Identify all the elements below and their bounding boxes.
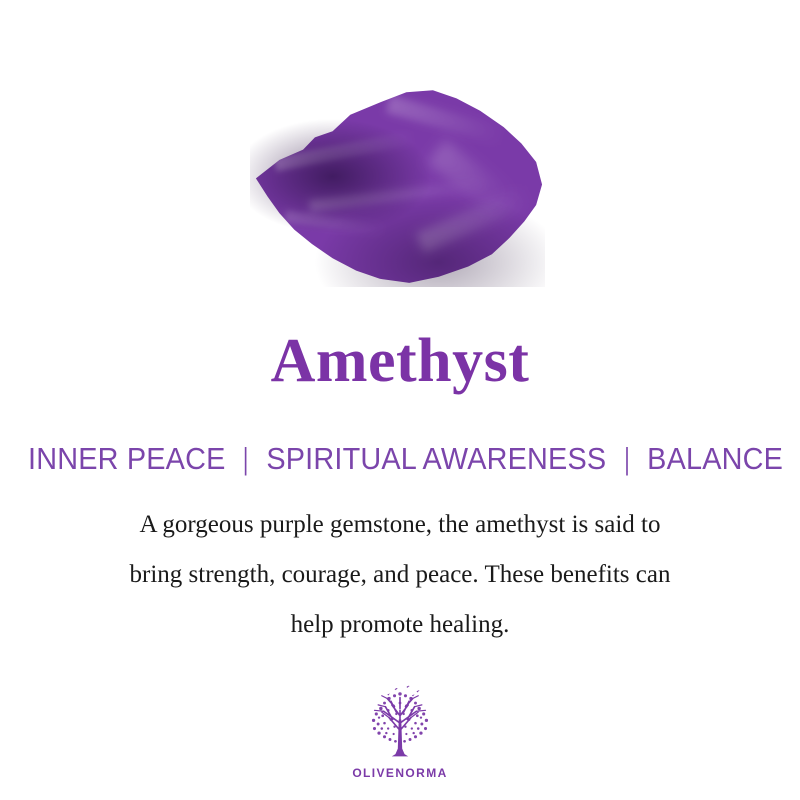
crystal-body [250,82,545,287]
keyword-separator: | [243,441,248,477]
brand-logo: OLIVENORMA [0,683,800,780]
keyword-list: INNER PEACE | SPIRITUAL AWARENESS | BALA… [28,441,772,477]
tree-of-life-icon [354,683,446,765]
keyword-balance: BALANCE [647,441,783,476]
product-description: A gorgeous purple gemstone, the amethyst… [60,500,740,650]
brand-name: OLIVENORMA [0,766,800,780]
description-line: bring strength, courage, and peace. Thes… [60,550,740,600]
keyword-spiritual-awareness: SPIRITUAL AWARENESS [266,441,606,476]
keyword-inner-peace: INNER PEACE [28,441,225,476]
gemstone-image-area [0,70,800,295]
amethyst-crystal-image [250,82,545,287]
description-line: help promote healing. [60,600,740,650]
keyword-separator: | [624,441,629,477]
description-line: A gorgeous purple gemstone, the amethyst… [60,500,740,550]
amethyst-info-card: Amethyst INNER PEACE | SPIRITUAL AWARENE… [0,0,800,800]
page-title: Amethyst [0,330,800,392]
